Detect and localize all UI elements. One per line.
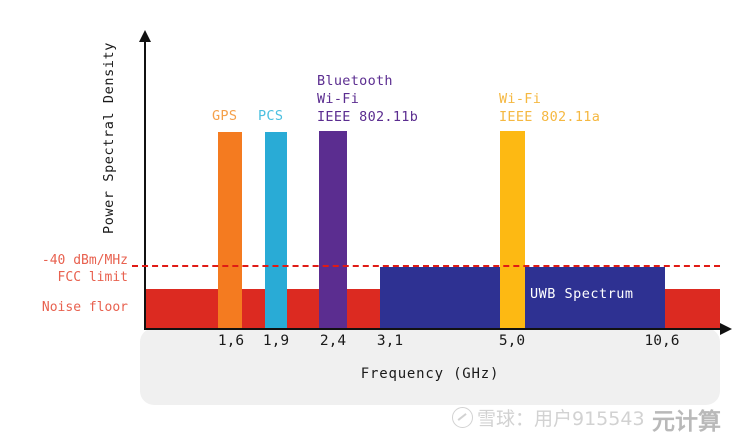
x-axis-line: [144, 328, 722, 330]
fcc-limit-label: -40 dBm/MHz FCC limit: [0, 252, 128, 286]
watermark-brand: 元计算: [652, 402, 721, 436]
watermark-logo-icon: [452, 407, 473, 428]
x-tick-label: 10,6: [645, 333, 680, 349]
y-axis-arrow-icon: [139, 30, 151, 42]
watermark: 雪球：用户915543: [452, 404, 645, 431]
fcc-limit-label-line1: -40 dBm/MHz: [0, 252, 128, 269]
bar-label-wifi-a-line2: IEEE 802.11a: [499, 108, 600, 126]
bar-label-wifi-a-line1: Wi-Fi: [499, 90, 600, 108]
bar-label-bluetooth-wifi-11b: Bluetooth Wi-Fi IEEE 802.11b: [317, 72, 418, 126]
x-tick-label: 1,6: [218, 333, 244, 349]
bar-wifi-11a: [500, 131, 525, 328]
bar-bluetooth-wifi-11b: [319, 131, 347, 328]
fcc-limit-label-line2: FCC limit: [0, 269, 128, 286]
bar-label-bluetooth-line1: Bluetooth: [317, 72, 418, 90]
bar-label-gps: GPS: [212, 107, 237, 125]
y-axis-line: [144, 40, 146, 330]
bar-label-bluetooth-line2: Wi-Fi: [317, 90, 418, 108]
uwb-spectrum-label: UWB Spectrum: [530, 286, 634, 302]
noise-floor-label: Noise floor: [0, 300, 128, 315]
bar-pcs: [265, 132, 287, 328]
x-tick-label: 3,1: [377, 333, 403, 349]
x-axis-arrow-icon: [720, 323, 732, 335]
x-tick-label: 2,4: [320, 333, 346, 349]
bar-label-bluetooth-line3: IEEE 802.11b: [317, 108, 418, 126]
spectrum-chart-figure: Power Spectral Density UWB Spectrum -40 …: [0, 0, 750, 438]
x-axis-label: Frequency (GHz): [140, 366, 720, 382]
y-axis-label: Power Spectral Density: [101, 23, 117, 253]
watermark-text: 雪球：用户915543: [477, 404, 645, 431]
bar-label-wifi-11a: Wi-Fi IEEE 802.11a: [499, 90, 600, 126]
x-tick-label: 5,0: [499, 333, 525, 349]
bar-gps: [218, 132, 242, 328]
bar-label-pcs: PCS: [258, 107, 283, 125]
x-tick-label: 1,9: [263, 333, 289, 349]
fcc-limit-line: [132, 265, 720, 267]
